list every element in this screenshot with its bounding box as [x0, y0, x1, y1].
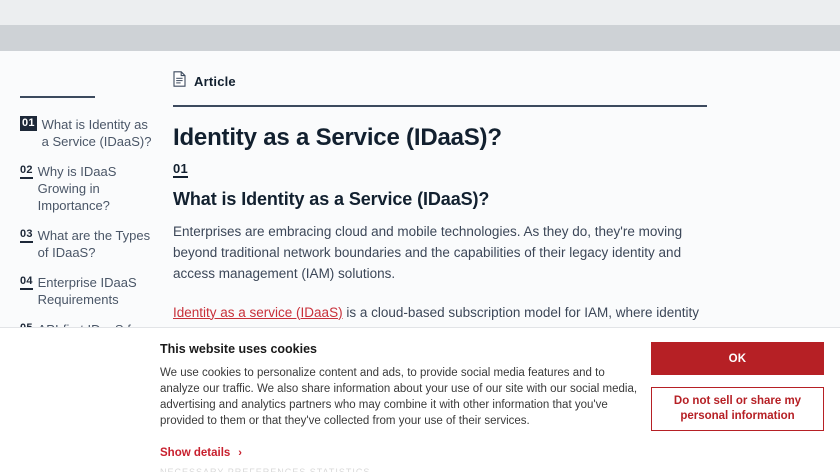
- page-title: Identity as a Service (IDaaS)?: [173, 124, 713, 152]
- do-not-sell-button[interactable]: Do not sell or share my personal informa…: [651, 387, 824, 431]
- section-heading: What is Identity as a Service (IDaaS)?: [173, 188, 713, 210]
- chevron-right-icon: ›: [238, 447, 242, 459]
- document-icon: [173, 71, 186, 92]
- cookie-consent-banner: This website uses cookies We use cookies…: [0, 327, 840, 472]
- sidebar-item-1[interactable]: 01 What is Identity as a Service (IDaaS)…: [0, 116, 160, 150]
- sidebar-item-2-number: 02: [20, 163, 33, 179]
- sidebar-item-4[interactable]: 04 Enterprise IDaaS Requirements: [0, 274, 160, 308]
- sidebar-item-2-label: Why is IDaaS Growing in Importance?: [38, 163, 154, 214]
- sidebar-item-3-number: 03: [20, 227, 33, 243]
- show-details-label: Show details: [160, 447, 230, 459]
- toc-list: 01 What is Identity as a Service (IDaaS)…: [0, 116, 160, 355]
- accept-cookies-button[interactable]: OK: [651, 342, 824, 375]
- sidebar-divider: [20, 96, 95, 98]
- show-details-link[interactable]: Show details ›: [160, 447, 242, 459]
- article-kicker-label: Article: [194, 74, 236, 89]
- browser-toolbar-upper: [0, 0, 840, 25]
- article-kicker: Article: [173, 51, 713, 92]
- sidebar-item-3-label: What are the Types of IDaaS?: [38, 227, 154, 261]
- idaas-definition-link[interactable]: Identity as a service (IDaaS): [173, 305, 343, 320]
- sidebar-item-2[interactable]: 02 Why is IDaaS Growing in Importance?: [0, 163, 160, 214]
- article-divider: [173, 105, 707, 107]
- sidebar-item-1-number: 01: [20, 116, 37, 131]
- cookie-category-labels: NECESSARY PREFERENCES STATISTICS: [160, 467, 370, 472]
- article-table-of-contents: 01 What is Identity as a Service (IDaaS)…: [0, 51, 160, 368]
- cookie-banner-heading: This website uses cookies: [160, 342, 640, 356]
- sidebar-item-4-number: 04: [20, 274, 33, 290]
- section-number-badge: 01: [173, 161, 188, 178]
- sidebar-item-1-label: What is Identity as a Service (IDaaS)?: [42, 116, 154, 150]
- cookie-text-column: This website uses cookies We use cookies…: [160, 342, 640, 461]
- cookie-banner-inner: This website uses cookies We use cookies…: [0, 328, 840, 472]
- sidebar-item-4-label: Enterprise IDaaS Requirements: [38, 274, 154, 308]
- cookie-banner-body: We use cookies to personalize content an…: [160, 365, 640, 429]
- cookie-button-column: OK Do not sell or share my personal info…: [651, 342, 824, 431]
- sidebar-item-3[interactable]: 03 What are the Types of IDaaS?: [0, 227, 160, 261]
- article-paragraph-1: Enterprises are embracing cloud and mobi…: [173, 221, 713, 284]
- browser-toolbar-lower: [0, 25, 840, 51]
